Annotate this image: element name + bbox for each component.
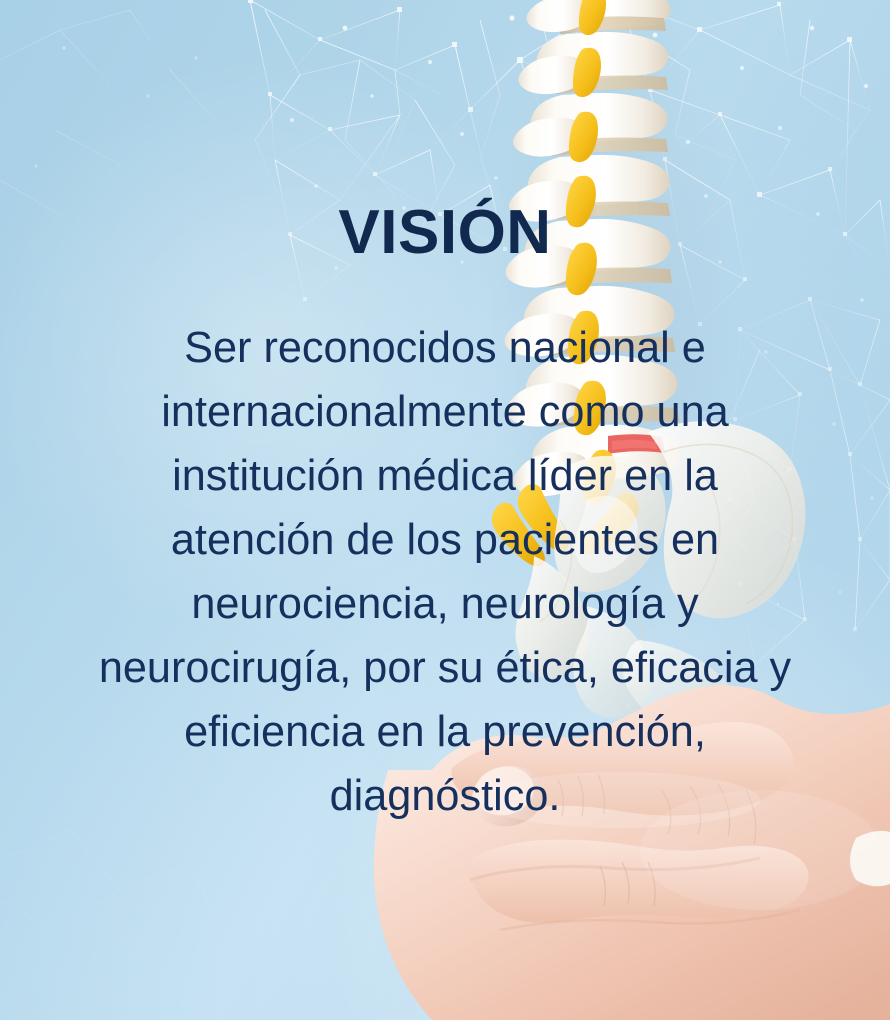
paragraph-line: neurocirugía, por su ética, eficacia y: [60, 636, 830, 700]
paragraph-line: Ser reconocidos nacional e: [60, 316, 830, 380]
paragraph-line: internacionalmente como una: [60, 380, 830, 444]
vision-slide: VISIÓN Ser reconocidos nacional e intern…: [0, 0, 890, 1020]
page-title: VISIÓN: [0, 200, 890, 265]
paragraph-line: eficiencia en la prevención,: [60, 700, 830, 764]
paragraph-line: neurociencia, neurología y: [60, 572, 830, 636]
paragraph-line: atención de los pacientes en: [60, 508, 830, 572]
paragraph-line: diagnóstico.: [60, 764, 830, 828]
vision-paragraph: Ser reconocidos nacional e internacional…: [60, 316, 830, 828]
paragraph-line: institución médica líder en la: [60, 444, 830, 508]
text-content: VISIÓN Ser reconocidos nacional e intern…: [0, 0, 890, 1020]
